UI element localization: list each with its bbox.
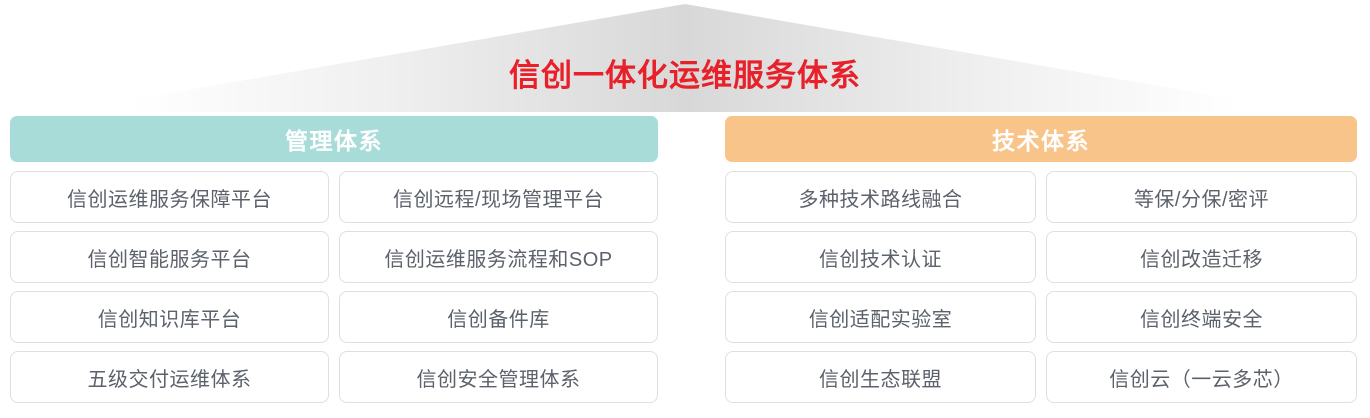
panel-grid-technology: 多种技术路线融合 等保/分保/密评 信创技术认证 信创改造迁移 信创适配实验室 … — [725, 171, 1357, 403]
cell-technology-1-2[interactable]: 信创技术认证 — [725, 231, 1036, 283]
cell-technology-1-1[interactable]: 多种技术路线融合 — [725, 171, 1036, 223]
panel-grid-management: 信创运维服务保障平台 信创远程/现场管理平台 信创智能服务平台 信创运维服务流程… — [10, 171, 658, 403]
cell-management-1-3[interactable]: 信创知识库平台 — [10, 291, 329, 343]
cell-management-2-4[interactable]: 信创安全管理体系 — [339, 351, 658, 403]
cell-technology-1-4[interactable]: 信创生态联盟 — [725, 351, 1036, 403]
panel-management-system: 管理体系 信创运维服务保障平台 信创远程/现场管理平台 信创智能服务平台 信创运… — [10, 116, 658, 403]
panel-header-management: 管理体系 — [10, 116, 658, 162]
panel-header-technology: 技术体系 — [725, 116, 1357, 162]
banner-title: 信创一体化运维服务体系 — [0, 56, 1370, 96]
infographic-root: 信创一体化运维服务体系 管理体系 信创运维服务保障平台 信创远程/现场管理平台 … — [0, 0, 1370, 418]
cell-management-2-2[interactable]: 信创运维服务流程和SOP — [339, 231, 658, 283]
roof-banner: 信创一体化运维服务体系 — [0, 0, 1370, 112]
panel-technology-system: 技术体系 多种技术路线融合 等保/分保/密评 信创技术认证 信创改造迁移 信创适… — [725, 116, 1357, 403]
cell-technology-2-2[interactable]: 信创改造迁移 — [1046, 231, 1357, 283]
cell-management-1-4[interactable]: 五级交付运维体系 — [10, 351, 329, 403]
cell-technology-1-3[interactable]: 信创适配实验室 — [725, 291, 1036, 343]
cell-technology-2-3[interactable]: 信创终端安全 — [1046, 291, 1357, 343]
cell-technology-2-1[interactable]: 等保/分保/密评 — [1046, 171, 1357, 223]
cell-management-2-1[interactable]: 信创远程/现场管理平台 — [339, 171, 658, 223]
cell-management-2-3[interactable]: 信创备件库 — [339, 291, 658, 343]
cell-management-1-2[interactable]: 信创智能服务平台 — [10, 231, 329, 283]
cell-technology-2-4[interactable]: 信创云（一云多芯） — [1046, 351, 1357, 403]
cell-management-1-1[interactable]: 信创运维服务保障平台 — [10, 171, 329, 223]
panels-container: 管理体系 信创运维服务保障平台 信创远程/现场管理平台 信创智能服务平台 信创运… — [0, 116, 1370, 418]
